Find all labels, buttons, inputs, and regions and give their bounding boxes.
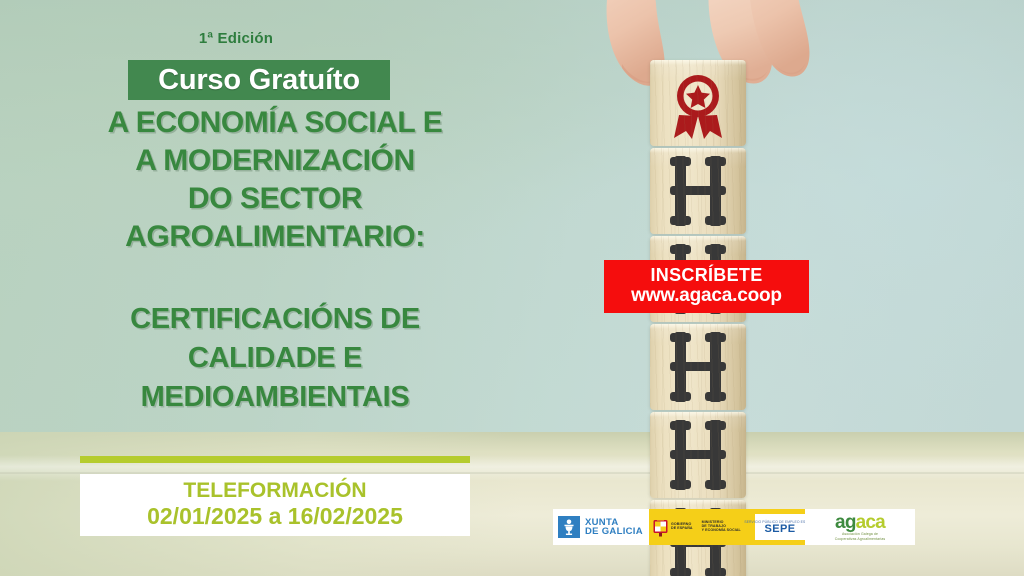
agaca-wordmark: agaca — [835, 513, 885, 532]
block-ladder — [650, 148, 746, 234]
divider — [80, 456, 470, 463]
delivery-mode-label: TELEFORMACIÓN — [183, 479, 366, 503]
ladder-rungs-icon — [650, 148, 746, 234]
subtitle-line-3: MEDIOAMBIENTAIS — [60, 383, 490, 412]
logo-sepe: SERVICIO PÚBLICO DE EMPLEO ESTATAL SEPE — [749, 509, 811, 545]
page-subtitle: CERTIFICACIÓNS DE CALIDADE E MEDIOAMBIEN… — [60, 305, 490, 412]
enroll-cta-button[interactable]: INSCRÍBETE www.agaca.coop — [604, 260, 809, 313]
title-line-2: A MODERNIZACIÓN — [60, 146, 490, 176]
title-line-3: DO SECTOR — [60, 184, 490, 214]
enroll-cta-url[interactable]: www.agaca.coop — [631, 285, 782, 308]
logo-gobierno-de-espana: GOBIERNO DE ESPAÑA MINISTERIO DE TRABAJO… — [649, 509, 749, 545]
title-line-1: A ECONOMÍA SOCIAL E — [60, 108, 490, 138]
logo-agaca: agaca Asociación Galega de Cooperativas … — [805, 509, 915, 545]
subtitle-line-2: CALIDADE E — [60, 344, 490, 373]
wooden-block-tower — [650, 60, 746, 576]
page-title: A ECONOMÍA SOCIAL E A MODERNIZACIÓN DO S… — [60, 108, 490, 252]
gobierno-line-2: DE ESPAÑA — [671, 527, 693, 531]
course-dates-label: 02/01/2025 a 16/02/2025 — [147, 503, 403, 531]
block-ladder — [650, 324, 746, 410]
gobierno-wordmark: GOBIERNO DE ESPAÑA — [671, 523, 693, 531]
agaca-wordmark-part-1: ag — [835, 512, 856, 533]
xunta-line-2: DE GALICIA — [585, 527, 643, 537]
poster-text-column: 1ª Edición Curso Gratuíto A ECONOMÍA SOC… — [0, 0, 540, 576]
block-ladder — [650, 412, 746, 498]
course-info-box: TELEFORMACIÓN 02/01/2025 a 16/02/2025 — [80, 474, 470, 536]
logo-xunta-de-galicia: XUNTA DE GALICIA — [553, 509, 649, 545]
spain-coat-of-arms-icon — [653, 518, 668, 537]
quality-award-rosette-icon — [650, 60, 746, 146]
title-line-4: AGROALIMENTARIO: — [60, 222, 490, 252]
edition-label: 1ª Edición — [80, 30, 392, 47]
ministerio-line-3: Y ECONOMÍA SOCIAL — [702, 529, 741, 533]
free-course-badge: Curso Gratuíto — [128, 60, 390, 100]
free-course-badge-label: Curso Gratuíto — [158, 64, 360, 97]
sepe-wordmark: SEPE — [765, 524, 796, 535]
ladder-rungs-icon — [650, 412, 746, 498]
block-award — [650, 60, 746, 146]
enroll-cta-headline: INSCRÍBETE — [650, 265, 762, 286]
ministerio-wordmark: MINISTERIO DE TRABAJO Y ECONOMÍA SOCIAL — [702, 521, 741, 532]
agaca-wordmark-part-2: aca — [856, 512, 885, 533]
xunta-wordmark: XUNTA DE GALICIA — [585, 518, 643, 537]
course-poster: 1ª Edición Curso Gratuíto A ECONOMÍA SOC… — [0, 0, 1024, 576]
agaca-tagline-line-2: Cooperativas Agroalimentarias — [835, 537, 886, 541]
sponsor-logo-strip: XUNTA DE GALICIA GOBIERNO DE ESPAÑA MINI… — [553, 509, 839, 545]
xunta-chalice-icon — [558, 516, 580, 538]
subtitle-line-1: CERTIFICACIÓNS DE — [60, 305, 490, 334]
ladder-rungs-icon — [650, 324, 746, 410]
